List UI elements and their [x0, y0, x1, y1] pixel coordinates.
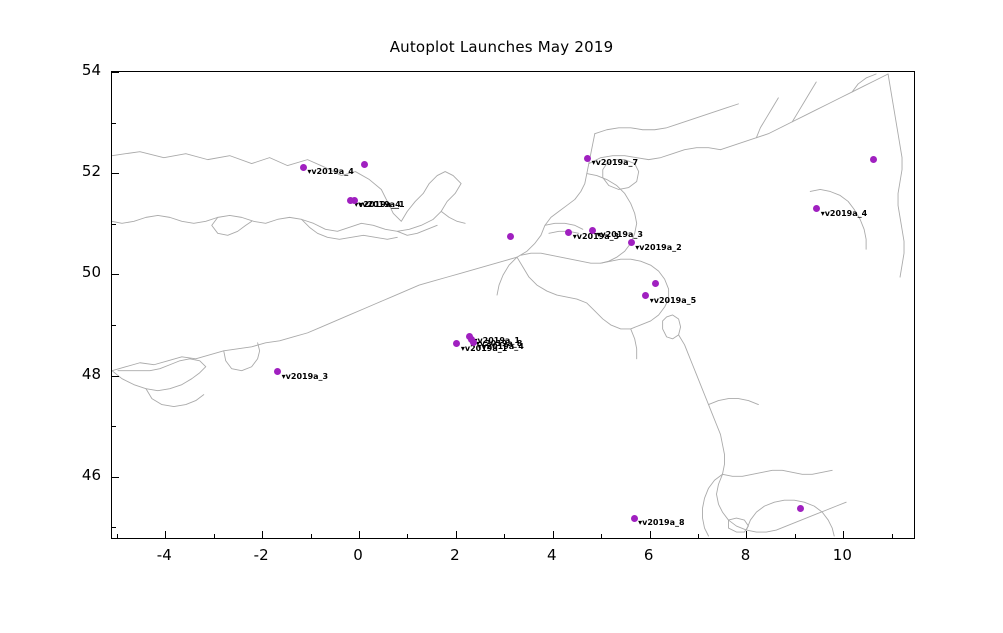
data-point-marker[interactable]: [589, 227, 596, 234]
x-axis-tick: [553, 531, 554, 538]
x-axis-tick: [601, 534, 602, 538]
data-point-marker[interactable]: [797, 505, 804, 512]
data-point-marker[interactable]: [300, 164, 307, 171]
x-axis-tick: [650, 531, 651, 538]
map-coastlines: [112, 72, 914, 538]
data-point-label: ▾v2019a_3: [596, 230, 642, 239]
data-point-marker[interactable]: [351, 197, 358, 204]
y-axis-tick: [112, 527, 116, 528]
y-axis-tick: [112, 72, 119, 73]
x-axis-tick: [262, 531, 263, 538]
y-axis-tick-label: 50: [41, 263, 101, 281]
data-point-label: ▾v2019a_8: [638, 518, 684, 527]
x-axis-tick: [214, 534, 215, 538]
x-axis-tick-label: -2: [231, 546, 291, 564]
data-point-marker[interactable]: [584, 155, 591, 162]
y-axis-tick: [112, 426, 116, 427]
y-axis-tick: [112, 224, 116, 225]
x-axis-tick-label: 2: [425, 546, 485, 564]
x-axis-tick-label: 6: [619, 546, 679, 564]
data-point-marker[interactable]: [628, 239, 635, 246]
x-axis-tick-label: 0: [328, 546, 388, 564]
y-axis-tick: [112, 123, 116, 124]
data-point-label: ▾v2019a_2: [635, 243, 681, 252]
x-axis-tick: [407, 534, 408, 538]
page-title: Autoplot Launches May 2019: [0, 38, 1003, 56]
map-plot-area[interactable]: ▾v2019a_4▾v2019a_4▾v2019a_1▾v2019a_7▾v20…: [111, 71, 915, 539]
x-axis-tick-label: -4: [134, 546, 194, 564]
x-axis-tick: [504, 534, 505, 538]
y-axis-tick-label: 54: [41, 61, 101, 79]
x-axis-tick-label: 10: [812, 546, 872, 564]
x-axis-tick: [311, 534, 312, 538]
data-point-marker[interactable]: [631, 515, 638, 522]
x-axis-tick-label: 4: [522, 546, 582, 564]
x-axis-tick-label: 8: [715, 546, 775, 564]
y-axis-tick-label: 48: [41, 365, 101, 383]
figure-canvas: Autoplot Launches May 2019: [0, 0, 1003, 633]
data-point-label: ▾v2019a_3: [282, 372, 328, 381]
x-axis-tick: [456, 531, 457, 538]
data-point-label: ▾v2019a_4: [477, 342, 523, 351]
x-axis-tick: [746, 531, 747, 538]
y-axis-tick: [112, 274, 119, 275]
x-axis-tick: [843, 531, 844, 538]
data-point-marker[interactable]: [470, 339, 477, 346]
data-point-label: ▾v2019a_4: [821, 209, 867, 218]
x-axis-tick: [117, 534, 118, 538]
data-point-label: ▾v2019a_1: [358, 200, 404, 209]
x-axis-tick: [892, 534, 893, 538]
data-point-marker[interactable]: [870, 156, 877, 163]
x-axis-tick: [359, 531, 360, 538]
y-axis-tick-label: 52: [41, 162, 101, 180]
y-axis-tick-label: 46: [41, 466, 101, 484]
data-point-marker[interactable]: [652, 280, 659, 287]
y-axis-tick: [112, 325, 116, 326]
x-axis-tick: [698, 534, 699, 538]
y-axis-tick: [112, 173, 119, 174]
y-axis-tick: [112, 477, 119, 478]
x-axis-tick: [795, 534, 796, 538]
y-axis-tick: [112, 376, 119, 377]
data-point-label: ▾v2019a_5: [650, 296, 696, 305]
data-point-label: ▾v2019a_7: [592, 158, 638, 167]
data-point-marker[interactable]: [507, 233, 514, 240]
data-point-marker[interactable]: [361, 161, 368, 168]
x-axis-tick: [165, 531, 166, 538]
data-point-label: ▾v2019a_4: [307, 167, 353, 176]
